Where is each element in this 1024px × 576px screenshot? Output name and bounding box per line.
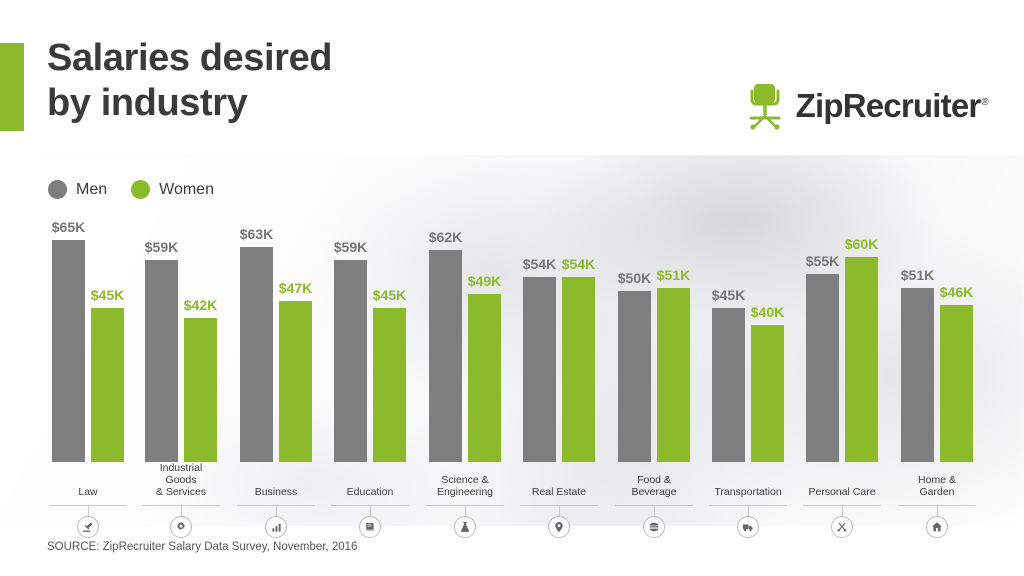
bar-women: $60K <box>845 257 878 462</box>
bar-women: $45K <box>91 308 124 462</box>
bar-men: $59K <box>334 260 367 462</box>
bar-men: $54K <box>523 277 556 462</box>
category-label-line: Education <box>334 486 406 498</box>
bar-men: $59K <box>145 260 178 462</box>
category-label-line: Beverage <box>618 486 690 498</box>
category-label: Home &Garden <box>901 474 973 498</box>
category-label-line: Food & <box>618 474 690 486</box>
category-label-line: & Services <box>145 486 217 498</box>
bar-women: $54K <box>562 277 595 462</box>
bar-value-label-men: $59K <box>145 239 178 255</box>
bar-women: $49K <box>468 294 501 462</box>
bar-women: $42K <box>184 318 217 462</box>
category-label: Education <box>334 486 406 498</box>
bar-chart-icon <box>265 516 287 538</box>
category-label-line: Personal Care <box>806 486 878 498</box>
truck-icon <box>737 516 759 538</box>
location-pin-icon <box>548 516 570 538</box>
category-label: Real Estate <box>523 486 595 498</box>
bar-men: $63K <box>240 247 273 462</box>
scissors-icon <box>831 516 853 538</box>
circle-swatch-women-icon <box>131 180 150 199</box>
bar-value-label-women: $46K <box>940 284 973 300</box>
bar-value-label-women: $49K <box>468 273 501 289</box>
bar-value-label-men: $45K <box>712 287 745 303</box>
legend-label-women: Women <box>159 181 214 199</box>
bar-women: $51K <box>657 288 690 462</box>
bar-women: $46K <box>940 305 973 462</box>
bar-value-label-men: $59K <box>334 239 367 255</box>
bar-men: $51K <box>901 288 934 462</box>
chart-legend: Men Women <box>48 180 214 199</box>
bar-men: $50K <box>618 291 651 462</box>
bar-value-label-women: $45K <box>373 287 406 303</box>
bar-value-label-women: $40K <box>751 304 784 320</box>
bar-value-label-men: $55K <box>806 253 839 269</box>
category-label-line: Engineering <box>429 486 501 498</box>
category-label: Law <box>52 486 124 498</box>
bar-value-label-men: $65K <box>52 219 85 235</box>
bar-chart-plot: $65K$45KLaw$59K$42KIndustrial Goods& Ser… <box>0 0 1024 576</box>
category-label-line: Industrial Goods <box>145 462 217 486</box>
flask-icon <box>454 516 476 538</box>
book-icon <box>359 516 381 538</box>
bar-value-label-women: $51K <box>657 267 690 283</box>
category-label-line: Garden <box>901 486 973 498</box>
category-label-line: Science & <box>429 474 501 486</box>
category-label-line: Home & <box>901 474 973 486</box>
bar-value-label-women: $54K <box>562 256 595 272</box>
legend-item-women: Women <box>131 180 214 199</box>
category-label-line: Real Estate <box>523 486 595 498</box>
bar-men: $62K <box>429 250 462 462</box>
house-icon <box>926 516 948 538</box>
category-label: Food &Beverage <box>618 474 690 498</box>
bar-men: $65K <box>52 240 85 462</box>
bar-men: $45K <box>712 308 745 462</box>
category-label: Transportation <box>712 486 784 498</box>
bar-women: $45K <box>373 308 406 462</box>
category-label: Personal Care <box>806 486 878 498</box>
circle-swatch-men-icon <box>48 180 67 199</box>
bar-value-label-women: $47K <box>279 280 312 296</box>
category-label: Science &Engineering <box>429 474 501 498</box>
bar-value-label-women: $45K <box>91 287 124 303</box>
category-label-line: Transportation <box>712 486 784 498</box>
gavel-icon <box>77 516 99 538</box>
burger-icon <box>643 516 665 538</box>
gear-icon <box>170 516 192 538</box>
legend-item-men: Men <box>48 180 107 199</box>
bar-value-label-men: $51K <box>901 267 934 283</box>
bar-women: $47K <box>279 301 312 462</box>
bar-value-label-men: $63K <box>240 226 273 242</box>
bar-value-label-men: $62K <box>429 229 462 245</box>
bar-value-label-women: $60K <box>845 236 878 252</box>
category-label-line: Business <box>240 486 312 498</box>
bar-value-label-men: $50K <box>618 270 651 286</box>
bar-men: $55K <box>806 274 839 462</box>
bar-women: $40K <box>751 325 784 462</box>
category-label: Business <box>240 486 312 498</box>
bar-value-label-women: $42K <box>184 297 217 313</box>
category-label: Industrial Goods& Services <box>145 462 217 498</box>
bar-value-label-men: $54K <box>523 256 556 272</box>
category-label-line: Law <box>52 486 124 498</box>
legend-label-men: Men <box>76 181 107 199</box>
